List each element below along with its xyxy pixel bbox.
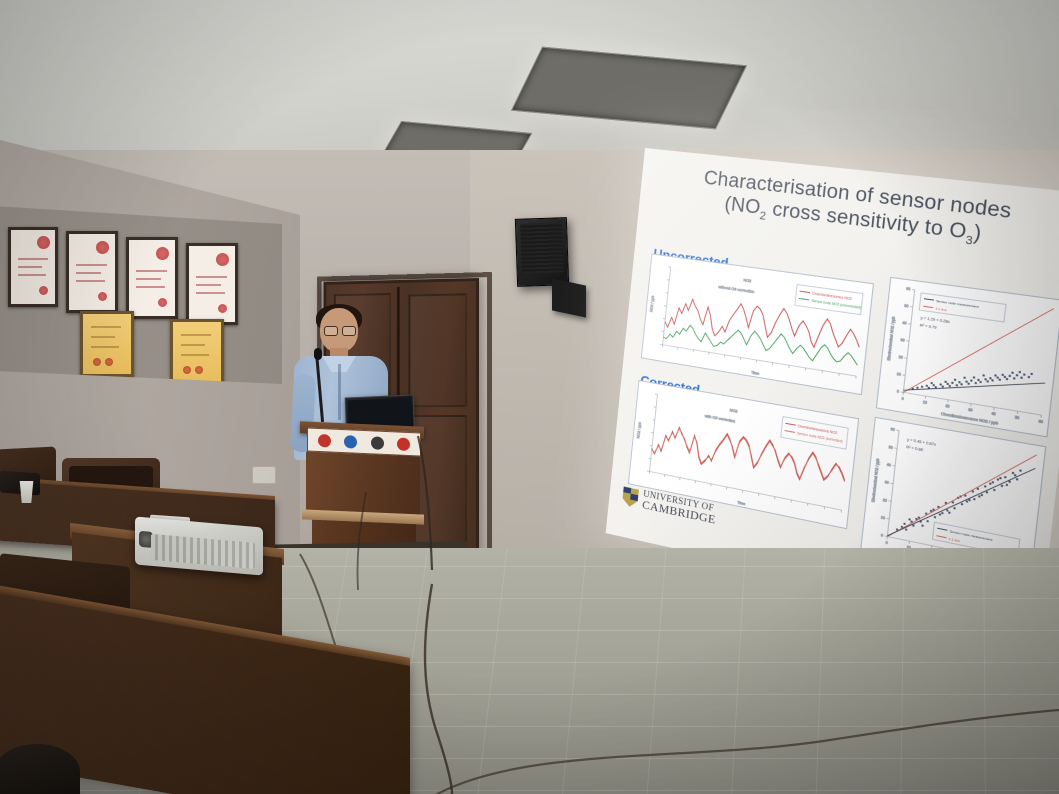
svg-text:Electrochemical NO2 / ppb: Electrochemical NO2 / ppb xyxy=(871,458,880,503)
conference-room-photo: Characterisation of sensor nodes (NO2 cr… xyxy=(0,0,1059,794)
svg-text:30: 30 xyxy=(968,407,973,412)
podium-logo-1 xyxy=(318,433,331,447)
scatter-uncorrected-svg: 01020304050600102030405060Electrochemica… xyxy=(877,278,1059,436)
svg-text:30: 30 xyxy=(900,338,905,343)
svg-text:0: 0 xyxy=(897,389,900,394)
svg-text:40: 40 xyxy=(902,321,907,326)
podium-logo-2 xyxy=(344,435,357,449)
glasses-icon xyxy=(324,326,356,334)
svg-text:Time: Time xyxy=(751,370,759,376)
svg-text:NO2 / ppb: NO2 / ppb xyxy=(649,295,655,312)
wall-speaker xyxy=(515,217,569,287)
svg-text:60: 60 xyxy=(1038,419,1043,424)
svg-text:R² = 0.79: R² = 0.79 xyxy=(920,323,937,330)
award-plaque xyxy=(170,319,224,385)
timeseries-uncorrected-svg: NO2 / ppbTimewithout O3 correctionNO2 Ch… xyxy=(642,255,873,394)
svg-text:NO2: NO2 xyxy=(729,408,737,414)
certificate xyxy=(126,237,178,319)
svg-text:40: 40 xyxy=(991,411,996,416)
svg-text:30: 30 xyxy=(885,480,890,485)
svg-text:without O3 correction: without O3 correction xyxy=(718,285,754,294)
svg-text:10: 10 xyxy=(897,372,902,377)
projector-vents xyxy=(151,534,255,569)
svg-text:Electrochemical NO2 / ppb: Electrochemical NO2 / ppb xyxy=(887,316,896,361)
svg-text:40: 40 xyxy=(887,463,892,468)
microphone-icon xyxy=(314,348,322,360)
svg-text:NO2 / ppb: NO2 / ppb xyxy=(636,422,642,439)
svg-text:10: 10 xyxy=(881,515,886,520)
podium-logo-3 xyxy=(371,436,384,450)
svg-text:60: 60 xyxy=(890,427,895,432)
svg-text:60: 60 xyxy=(906,287,911,292)
svg-text:0: 0 xyxy=(881,533,884,538)
svg-text:20: 20 xyxy=(883,498,888,503)
certificate xyxy=(186,243,238,325)
lectern-body xyxy=(306,452,420,519)
svg-text:50: 50 xyxy=(889,445,894,450)
svg-text:Chemiluminescence NO2 / ppb: Chemiluminescence NO2 / ppb xyxy=(941,412,999,426)
shirt-placket xyxy=(338,364,341,420)
svg-text:R² = 0.88: R² = 0.88 xyxy=(906,445,923,452)
svg-text:50: 50 xyxy=(904,304,909,309)
podium-logo-4 xyxy=(397,437,410,451)
ceiling-light-main xyxy=(511,47,747,130)
certificate xyxy=(66,231,118,313)
certificate xyxy=(8,227,58,307)
svg-text:10: 10 xyxy=(923,400,928,405)
certificate-display-case xyxy=(0,196,284,399)
svg-text:with O3 correction: with O3 correction xyxy=(705,414,736,424)
svg-text:Time: Time xyxy=(737,500,745,506)
svg-text:0: 0 xyxy=(885,540,888,545)
svg-text:0: 0 xyxy=(901,396,904,401)
svg-text:50: 50 xyxy=(1015,415,1020,420)
svg-text:20: 20 xyxy=(945,404,950,409)
chart-timeseries-uncorrected: NO2 / ppbTimewithout O3 correctionNO2 Ch… xyxy=(641,253,874,395)
svg-text:NO2: NO2 xyxy=(743,278,751,283)
chart-scatter-uncorrected: 01020304050600102030405060Electrochemica… xyxy=(876,277,1059,438)
award-plaque xyxy=(80,311,134,377)
wall-outlet[interactable] xyxy=(252,466,276,484)
cambridge-shield-icon xyxy=(622,487,639,509)
speaker-grille xyxy=(520,222,564,273)
svg-text:20: 20 xyxy=(898,355,903,360)
